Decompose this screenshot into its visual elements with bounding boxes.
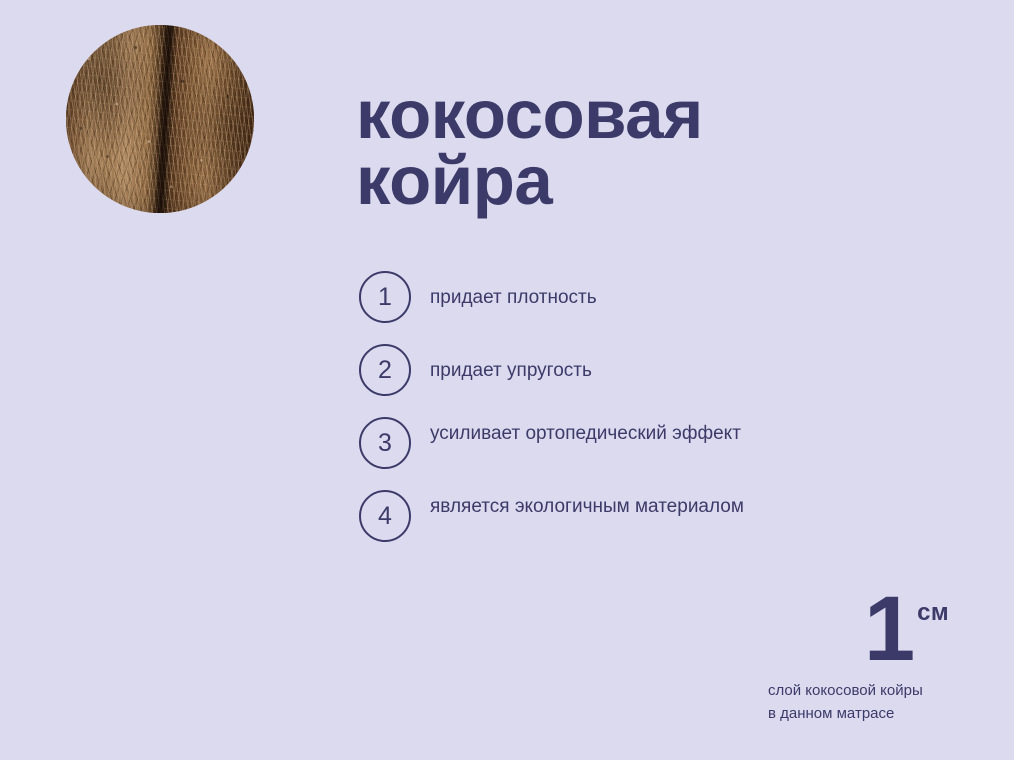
benefit-item-3: 3 усиливает ортопедический эффект (359, 417, 779, 469)
benefit-label-4: является экологичным материалом (430, 490, 744, 521)
benefits-list: 1 придает плотность 2 придает упругость … (359, 271, 779, 542)
benefit-number-3: 3 (378, 431, 392, 456)
page-title: кокосовая койра (356, 82, 976, 213)
thickness-value: 1 (864, 592, 914, 667)
thickness-callout: 1 см слой кокосовой койры в данном матра… (768, 592, 988, 726)
thickness-value-group: 1 см (768, 592, 988, 674)
benefit-item-4: 4 является экологичным материалом (359, 490, 779, 542)
thickness-caption: слой кокосовой койры в данном матрасе (768, 679, 988, 726)
benefit-number-4: 4 (378, 504, 392, 529)
thickness-caption-line-2: в данном матрасе (768, 702, 988, 725)
slide-root: кокосовая койра 1 придает плотность 2 пр… (0, 0, 1014, 760)
benefit-number-badge-4: 4 (359, 490, 411, 542)
benefit-number-badge-1: 1 (359, 271, 411, 323)
benefit-label-3: усиливает ортопедический эффект (430, 417, 741, 448)
thickness-caption-line-1: слой кокосовой койры (768, 679, 988, 702)
benefit-number-badge-2: 2 (359, 344, 411, 396)
thickness-unit: см (917, 601, 949, 625)
benefit-number-1: 1 (378, 285, 392, 310)
page-title-line-2: койра (356, 148, 976, 214)
benefit-number-badge-3: 3 (359, 417, 411, 469)
benefit-item-2: 2 придает упругость (359, 344, 779, 396)
page-title-line-1: кокосовая (356, 82, 976, 148)
benefit-number-2: 2 (378, 358, 392, 383)
photo-vignette (66, 25, 254, 213)
benefit-label-1: придает плотность (430, 271, 597, 312)
benefit-label-2: придает упругость (430, 344, 592, 385)
coconut-coir-photo (66, 25, 254, 213)
benefit-item-1: 1 придает плотность (359, 271, 779, 323)
